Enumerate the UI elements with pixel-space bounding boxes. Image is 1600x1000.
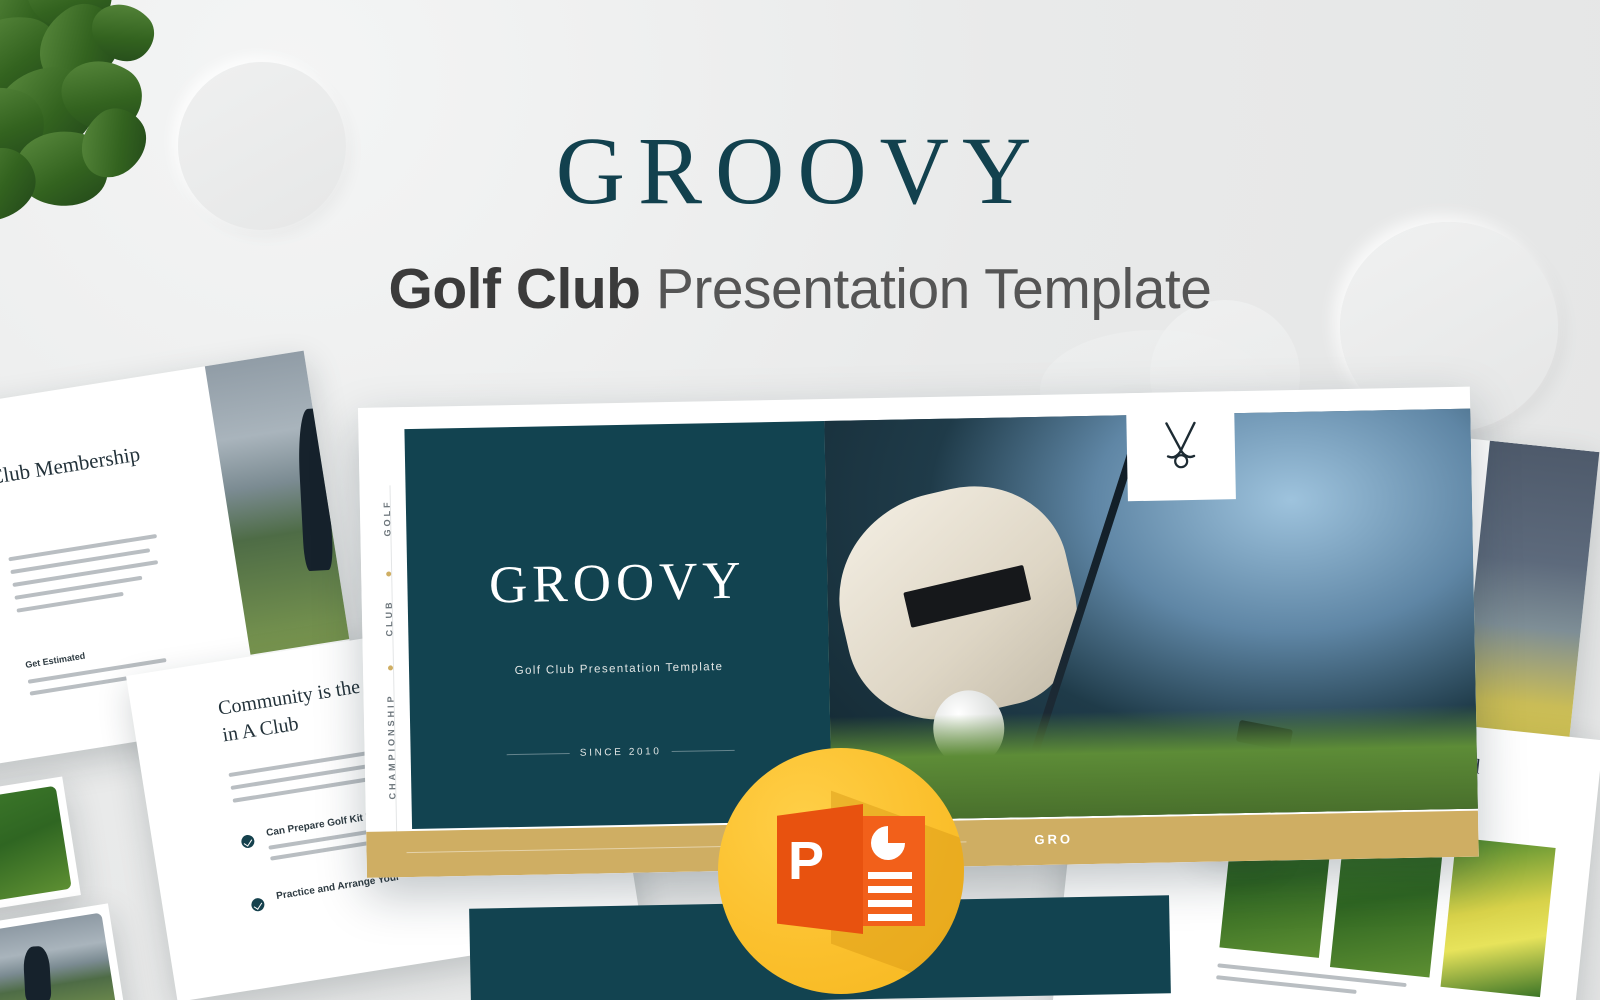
powerpoint-icon-bar-3 bbox=[868, 900, 912, 907]
cover-logo-card bbox=[1126, 391, 1236, 501]
powerpoint-icon-bar-2 bbox=[868, 886, 912, 893]
powerpoint-icon-letter: P bbox=[788, 834, 824, 888]
cover-title-block: GROOVY Golf Club Presentation Template S… bbox=[404, 421, 832, 829]
cover-nav-item-golf[interactable]: GOLF bbox=[382, 499, 393, 536]
slide-membership-photo bbox=[204, 351, 360, 655]
cover-subtitle: Golf Club Presentation Template bbox=[409, 659, 829, 679]
cover-since-rule-right bbox=[671, 750, 734, 752]
cover-title: GROOVY bbox=[407, 549, 828, 617]
slide-thumb-left-1[interactable] bbox=[0, 777, 81, 919]
powerpoint-icon-bar-4 bbox=[868, 914, 912, 921]
check-icon-2 bbox=[250, 897, 265, 912]
crossed-golf-clubs-icon bbox=[1155, 420, 1206, 473]
slide-thumb-left-2-photo bbox=[0, 913, 118, 1000]
slide-work-hard-photo-3 bbox=[1441, 838, 1556, 998]
slide-membership-title: The Green Groovy Club Membership Family bbox=[0, 438, 160, 546]
cover-since-rule-left bbox=[507, 753, 570, 755]
cover-footer-brand: GRO bbox=[1034, 831, 1073, 847]
cover-nav-dot-1 bbox=[386, 571, 391, 576]
cover-nav-dot-2 bbox=[388, 665, 393, 670]
powerpoint-file-icon[interactable]: P bbox=[718, 748, 964, 994]
powerpoint-icon-bar-1 bbox=[868, 872, 912, 879]
cover-nav-item-club[interactable]: CLUB bbox=[384, 599, 395, 636]
slide-membership-section-2: Get Estimated bbox=[25, 651, 86, 670]
slide-thumb-left-2[interactable] bbox=[0, 903, 127, 1000]
powerpoint-icon-pie-chart bbox=[871, 826, 905, 860]
slide-thumb-left-1-photo bbox=[0, 786, 72, 910]
cover-nav-item-championship[interactable]: CHAMPIONSHIP bbox=[385, 693, 397, 799]
check-icon-1 bbox=[240, 834, 255, 849]
cover-since: SINCE 2010 bbox=[580, 746, 662, 759]
slide-community-photo bbox=[126, 735, 142, 952]
